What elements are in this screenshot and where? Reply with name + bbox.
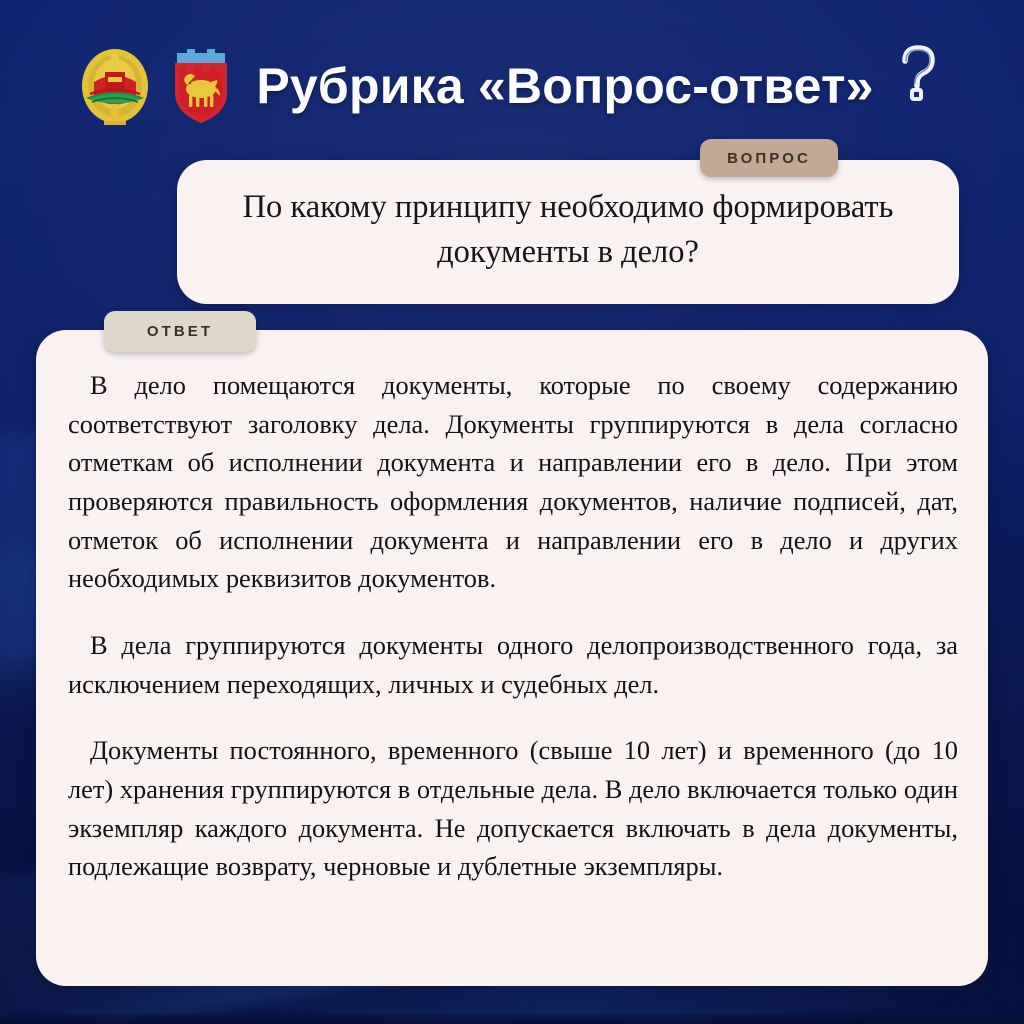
coat-of-arms-of-belarus-icon [78, 46, 152, 126]
answer-card: В дело помещаются документы, которые по … [36, 330, 988, 986]
answer-paragraph: В дела группируются документы одного дел… [68, 626, 958, 703]
coat-of-arms-of-brest-region-icon [170, 47, 232, 125]
question-text: По какому принципу необходимо формироват… [207, 185, 929, 274]
answer-paragraph: Документы постоянного, временного (свыше… [68, 731, 958, 886]
question-mark-doodle-icon [894, 42, 946, 104]
answer-text-body: В дело помещаются документы, которые по … [68, 366, 958, 886]
page-title: Рубрика «Вопрос-ответ» [256, 57, 873, 115]
background-bottom-bar [0, 1014, 1024, 1024]
answer-paragraph: В дело помещаются документы, которые по … [68, 366, 958, 598]
question-card: По какому принципу необходимо формироват… [177, 160, 959, 304]
status-badge-question: ВОПРОС [700, 139, 838, 177]
header-bar: Рубрика «Вопрос-ответ» [0, 38, 1024, 134]
status-badge-answer: ОТВЕТ [104, 311, 256, 352]
